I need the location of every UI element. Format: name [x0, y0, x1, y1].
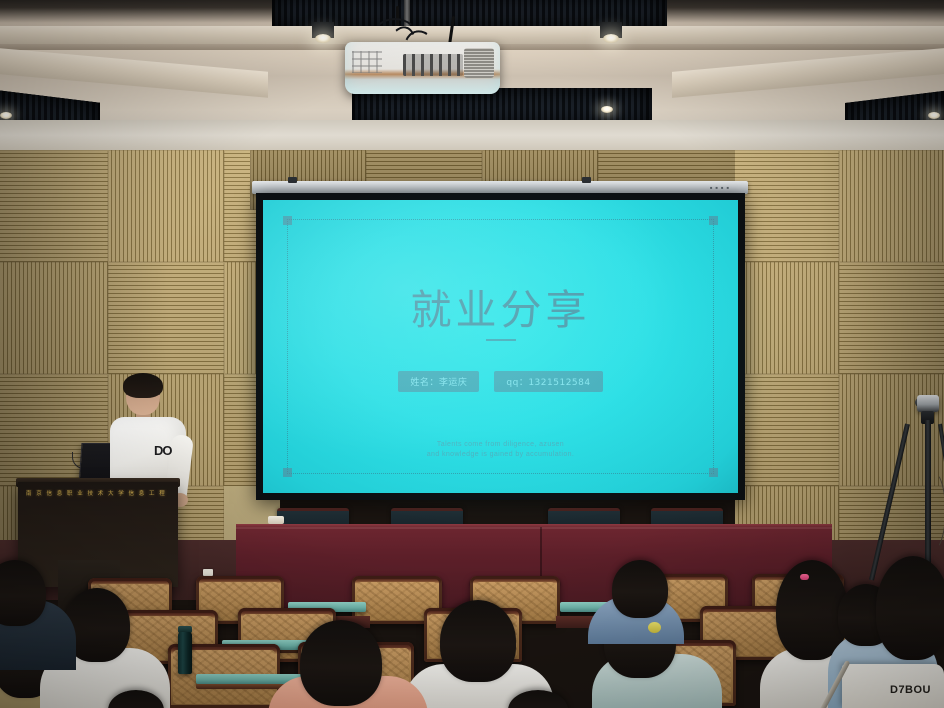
- acoustic-panel: [108, 262, 224, 374]
- acoustic-panel: [735, 374, 839, 486]
- projector-keypad: [352, 51, 382, 73]
- audience-head: [440, 600, 516, 682]
- acoustic-panel: [839, 262, 944, 374]
- audience-head: [876, 556, 944, 660]
- projection-screen: 就业分享 姓名：李运庆 qq：1321512584 Talents come f…: [256, 193, 745, 500]
- slide-corner-square: [283, 216, 292, 225]
- presenter-shirt-text: DO: [154, 443, 172, 458]
- slide-tag-row: 姓名：李运庆 qq：1321512584: [263, 371, 738, 392]
- presenter-hair: [123, 373, 163, 398]
- projector-ports: [403, 54, 463, 76]
- audience-head: [612, 560, 668, 618]
- slide-title-divider: [486, 339, 516, 341]
- lecture-hall-photo: ■ ■ ■ ■ 就业分享 姓名：李运庆 qq：1321512584 Talent…: [0, 0, 944, 708]
- ceiling-downlight: [928, 112, 940, 119]
- acoustic-panel: [735, 150, 839, 262]
- presentation-slide: 就业分享 姓名：李运庆 qq：1321512584 Talents come f…: [263, 200, 738, 493]
- ceiling-beam: [0, 48, 268, 97]
- slide-tag-qq: qq：1321512584: [494, 371, 602, 392]
- acoustic-panel: [735, 262, 839, 374]
- projector-vent: [464, 48, 494, 78]
- slide-corner-square: [709, 468, 718, 477]
- ceiling-projector: [345, 42, 500, 94]
- camcorder: [917, 395, 939, 412]
- slide-tag-name: 姓名：李运庆: [398, 371, 479, 392]
- screen-bracket: [582, 177, 591, 183]
- slide-dotted-frame: [287, 219, 715, 474]
- ceiling-downlight: [601, 106, 613, 113]
- paper-cup: [268, 516, 284, 524]
- acoustic-panel-grid: [735, 150, 944, 570]
- bag-logo-text: D7BOU: [890, 684, 931, 696]
- hair-clip: [648, 622, 661, 633]
- acoustic-panel: [108, 150, 224, 262]
- slide-footer: Talents come from diligence, azusen and …: [263, 440, 738, 461]
- podium-engraved-text: 南 京 信 息 职 业 技 术 大 学 信 息 工 程 学 院: [26, 489, 168, 501]
- acoustic-panel: [0, 150, 108, 262]
- slide-footer-line2: and knowledge is gained by accumulation.: [263, 450, 738, 461]
- ceiling-downlight: [0, 112, 12, 119]
- screen-bracket: [288, 177, 297, 183]
- slide-title: 就业分享: [263, 276, 738, 336]
- screen-housing-label: ■ ■ ■ ■: [710, 185, 730, 190]
- ceiling-beam: [672, 48, 944, 98]
- slide-footer-line1: Talents come from diligence, azusen: [263, 440, 738, 451]
- hair-tie: [800, 574, 809, 580]
- slide-corner-square: [709, 216, 718, 225]
- camera-cable: [918, 470, 944, 552]
- slide-corner-square: [283, 468, 292, 477]
- acoustic-panel: [839, 150, 944, 262]
- wall-cornice: [0, 120, 944, 154]
- wall-right-acoustic-panels: [735, 150, 944, 570]
- ceiling-downlight: [603, 34, 619, 43]
- acoustic-panel: [0, 262, 108, 374]
- audience-head: [300, 620, 382, 706]
- ceiling-downlight: [315, 34, 331, 43]
- thermos-bottle: [178, 632, 192, 674]
